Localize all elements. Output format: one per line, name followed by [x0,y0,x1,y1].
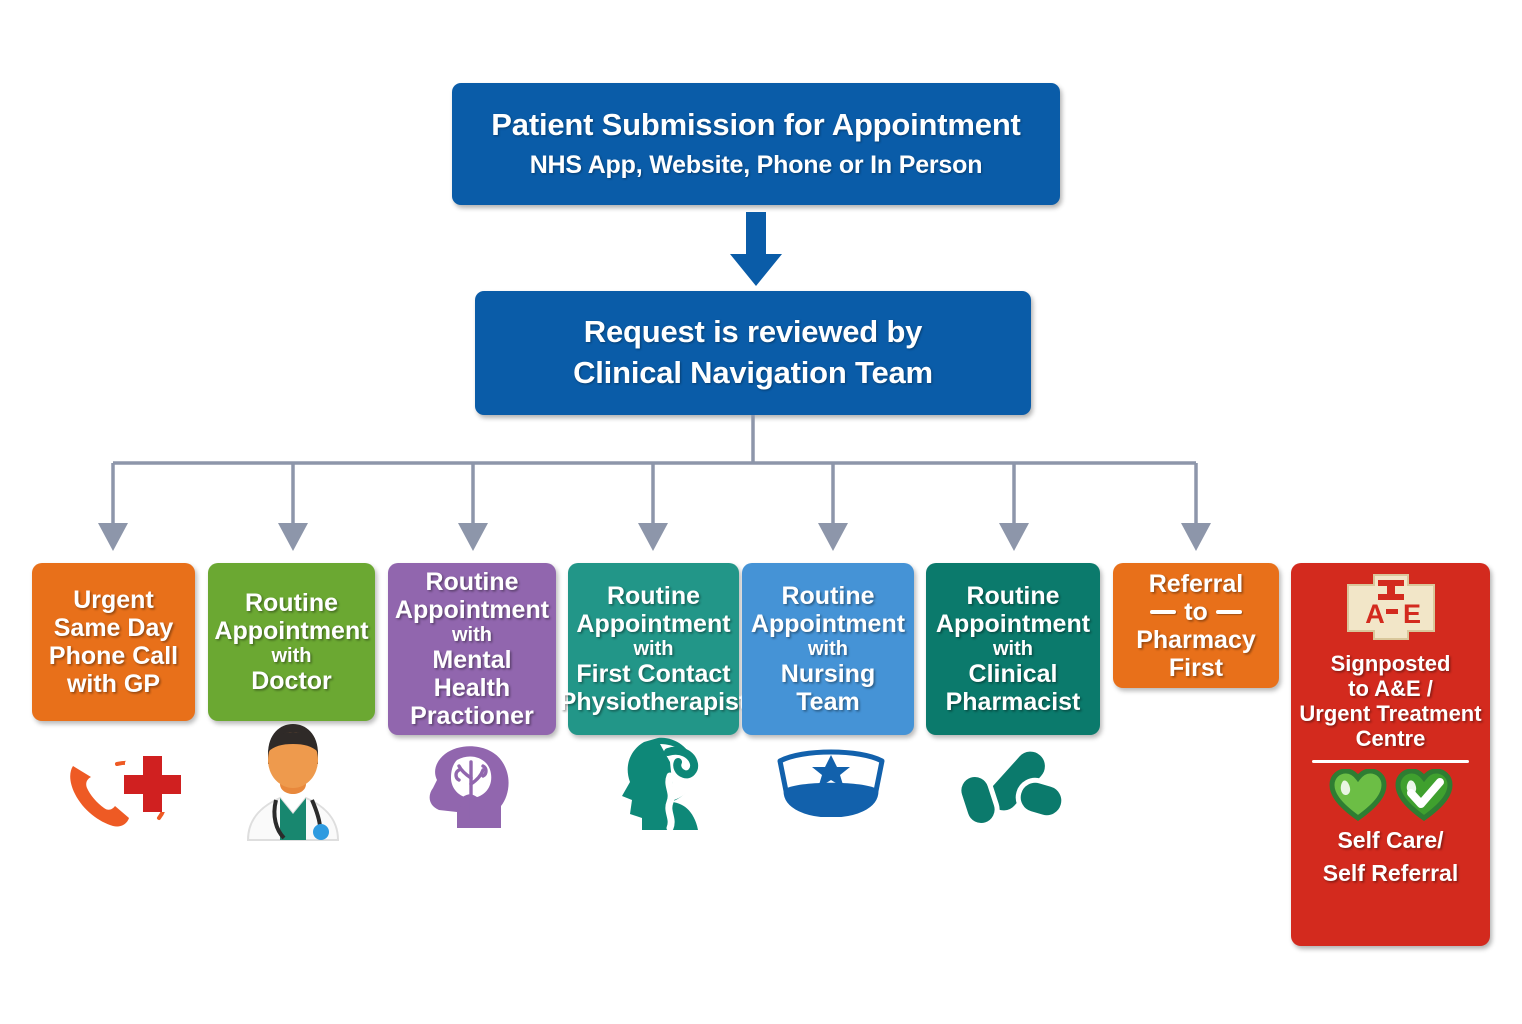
node-routine-mental-health-practioner[interactable]: Routine Appointment with Mental Health P… [388,563,556,735]
node-routine-doctor[interactable]: Routine Appointment with Doctor [208,563,375,721]
head-with-brain-icon [423,740,521,832]
option-line: Routine [425,568,518,596]
option-line: Practioner [410,702,534,730]
option-line: Appointment [214,617,368,645]
option-line: Team [796,688,859,716]
option-line: Referral [1149,570,1244,598]
rule-right [1216,610,1242,614]
option-line: with [993,638,1033,660]
rule-left [1150,610,1176,614]
self-care-line-1: Self Care/ [1337,827,1443,853]
option-line: Nursing [781,660,875,688]
head-with-spine-icon [608,736,718,832]
option-line: Physiotherapist [560,688,748,716]
option-line: Appointment [395,596,549,624]
green-heart-check-icon [1395,769,1453,821]
option-line: with GP [67,670,160,698]
option-line: Pharmacy [1136,626,1256,654]
svg-text:E: E [1402,599,1420,629]
node-referral-pharmacy-first[interactable]: Referral to Pharmacy First [1113,563,1279,688]
option-line: Same Day [54,614,174,642]
option-line: Urgent [73,586,154,614]
option-line: Appointment [936,610,1090,638]
ae-line-3: Urgent Treatment [1299,701,1481,726]
option-line: with [634,638,674,660]
review-line2: Clinical Navigation Team [573,353,933,394]
option-line: Appointment [576,610,730,638]
heart-icon-group [1329,769,1453,821]
node-routine-clinical-pharmacist[interactable]: Routine Appointment with Clinical Pharma… [926,563,1100,735]
option-line: Routine [966,582,1059,610]
option-line: Mental Health [392,646,552,702]
option-line: to [1184,598,1208,626]
connector-lines [0,415,1522,565]
option-line: Clinical [969,660,1058,688]
option-line: with [452,624,492,646]
option-line: with [272,645,312,667]
down-arrow-icon [726,212,786,288]
option-line: Routine [245,589,338,617]
ae-hospital-sign-icon: A E [1344,573,1438,643]
svg-text:A: A [1365,599,1385,629]
nurse-cap-icon [772,745,890,817]
ae-line-4: Centre [1356,726,1426,751]
pills-capsules-icon [960,738,1070,830]
node-patient-submission[interactable]: Patient Submission for Appointment NHS A… [452,83,1060,205]
ae-line-2: to A&E / [1348,676,1433,701]
option-line: Routine [607,582,700,610]
self-care-line-2: Self Referral [1323,860,1459,886]
node-clinical-navigation-review[interactable]: Request is reviewed by Clinical Navigati… [475,291,1031,415]
node-signposted-ae-self-care[interactable]: A E Signposted to A&E / Urgent Treatment… [1291,563,1490,946]
option-line: with [808,638,848,660]
ae-line-1: Signposted [1331,651,1451,676]
node-urgent-same-day-gp[interactable]: Urgent Same Day Phone Call with GP [32,563,195,721]
node-title-line1: Patient Submission for Appointment [491,107,1020,144]
review-line1: Request is reviewed by [584,312,922,353]
panel-divider [1312,760,1469,763]
node-routine-first-contact-physiotherapist[interactable]: Routine Appointment with First Contact P… [568,563,739,735]
doctor-avatar-icon [228,718,358,843]
node-title-line2: NHS App, Website, Phone or In Person [530,149,983,182]
flowchart-canvas: Patient Submission for Appointment NHS A… [0,0,1522,1024]
option-line: Phone Call [49,642,178,670]
option-line: Doctor [251,667,332,695]
green-heart-icon [1329,769,1387,821]
option-line: Routine [781,582,874,610]
option-line: First [1169,654,1223,682]
option-line: Appointment [751,610,905,638]
node-routine-nursing-team[interactable]: Routine Appointment with Nursing Team [742,563,914,735]
option-line-with-rules: to [1117,598,1275,626]
option-line: Pharmacist [946,688,1081,716]
phone-with-red-cross-icon [55,742,195,842]
option-line: First Contact [576,660,730,688]
